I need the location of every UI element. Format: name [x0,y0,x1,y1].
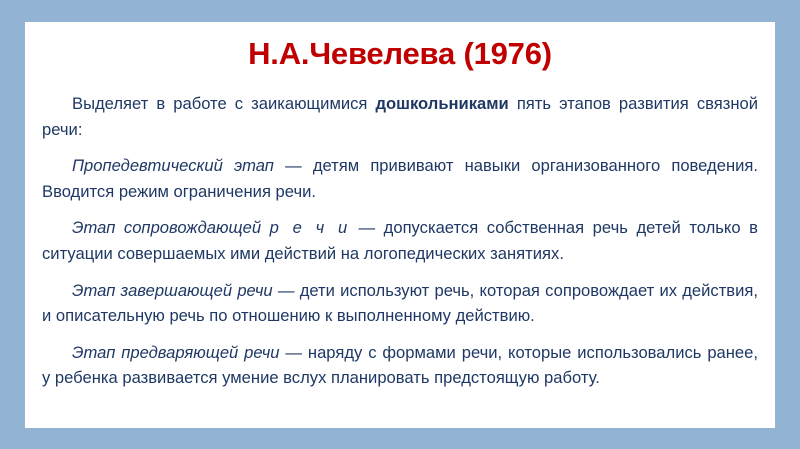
text-run-italic-spaced: р е ч и [270,218,350,237]
paragraph-stage-predvaryayushchey-rechi: Этап предваряющей речи — наряду с формам… [42,340,758,391]
text-run-italic: Этап предваряющей речи [72,343,280,362]
text-run-italic: Этап завершающей речи [72,281,273,300]
paragraph-intro: Выделяет в работе с заикающимися дошколь… [42,91,758,142]
slide-body-text: Выделяет в работе с заикающимися дошколь… [42,91,758,391]
text-run-italic: Пропедевтический этап [72,156,274,175]
text-run-regular: Выделяет в работе с заикающимися [72,94,375,113]
text-run-bold: дошкольниками [375,94,508,113]
text-run-italic: Этап сопровождающей [72,218,270,237]
paragraph-stage-propedevtichesky: Пропедевтический этап — детям прививают … [42,153,758,204]
slide: Н.А.Чевелева (1976) Выделяет в работе с … [0,0,800,449]
page-title: Н.А.Чевелева (1976) [25,38,775,71]
paragraph-stage-zavershayushchey-rechi: Этап завершающей речи — дети используют … [42,278,758,329]
paragraph-stage-soprovozhdayushchey-rechi: Этап сопровождающей р е ч и — допускаетс… [42,215,758,266]
